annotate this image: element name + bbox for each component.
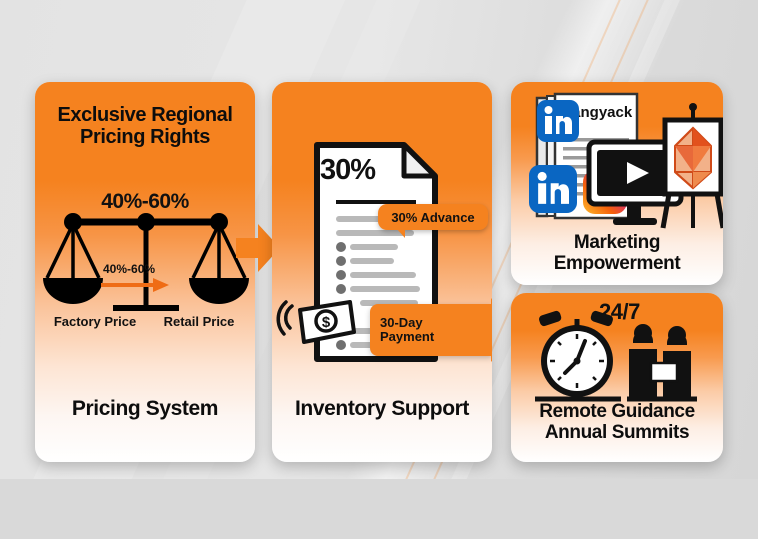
card-pricing-footer-title: Pricing System	[35, 397, 255, 421]
banner-line1: 30-Day	[380, 315, 423, 330]
pricing-transfer-arrow-icon	[101, 278, 169, 292]
slide-stage: Exclusive Regional Pricing Rights 40%-60…	[0, 0, 758, 539]
diagonal-streak	[0, 0, 19, 479]
label-factory-price: Factory Price	[41, 314, 149, 329]
card-marketing-footer-title: Marketing Empowerment	[511, 232, 723, 275]
two-people-icon	[623, 319, 701, 403]
banner-line2: Payment	[380, 329, 434, 344]
banknote-dollar-icon: $	[280, 296, 358, 352]
label-retail-price: Retail Price	[149, 314, 249, 329]
easel-chart-icon	[659, 102, 723, 230]
card-pricing-heading: Exclusive Regional Pricing Rights	[35, 104, 255, 149]
card-marketing-empowerment[interactable]: Langyack	[511, 82, 723, 285]
card-pricing-heading-line1: Exclusive Regional	[35, 104, 255, 126]
linkedin-icon[interactable]	[529, 165, 577, 213]
card-inventory-support[interactable]: 30% 30% Advance $ 30-Day Payment Invento…	[272, 82, 492, 462]
linkedin-icon[interactable]	[537, 100, 579, 142]
bubble-advance-payment[interactable]: 30% Advance	[378, 204, 488, 230]
banner-30-day-payment[interactable]: 30-Day Payment	[370, 304, 492, 356]
card-pricing-system[interactable]: Exclusive Regional Pricing Rights 40%-60…	[35, 82, 255, 462]
slide-canvas: Exclusive Regional Pricing Rights 40%-60…	[0, 0, 758, 479]
pricing-range-top: 40%-60%	[35, 190, 255, 214]
card-remote-guidance[interactable]: 24/7	[511, 293, 723, 462]
bottom-letterbox-band	[0, 479, 758, 539]
card-remote-footer-line1: Remote Guidance	[511, 401, 723, 422]
card-pricing-heading-line2: Pricing Rights	[35, 126, 255, 148]
card-remote-footer-title: Remote Guidance Annual Summits	[511, 401, 723, 444]
card-remote-footer-line2: Annual Summits	[511, 422, 723, 443]
alarm-clock-icon	[529, 311, 625, 403]
card-inventory-footer-title: Inventory Support	[272, 397, 492, 421]
svg-text:$: $	[322, 314, 331, 331]
card-marketing-footer-line1: Marketing	[511, 232, 723, 253]
card-marketing-footer-line2: Empowerment	[511, 253, 723, 274]
document-percent: 30%	[320, 154, 375, 187]
pricing-range-middle: 40%-60%	[103, 262, 155, 276]
